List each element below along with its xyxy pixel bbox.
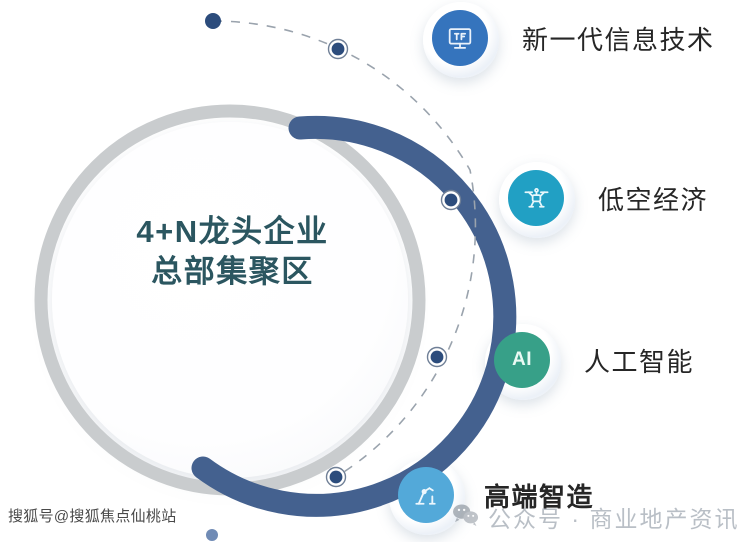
ai-text-icon: AI xyxy=(512,349,532,371)
drone-icon xyxy=(521,183,552,214)
pillar-badge[interactable] xyxy=(398,467,454,523)
center-headline-line1: 4+N龙头企业 xyxy=(136,214,328,249)
pillar-label: 人工智能 xyxy=(584,342,694,379)
pillar-badge[interactable]: AI xyxy=(494,332,550,388)
wechat-logo-icon xyxy=(452,503,479,532)
pillar-badge[interactable] xyxy=(432,10,488,66)
robot-arm-icon xyxy=(411,480,442,511)
dashed-arc-start-dot xyxy=(205,13,221,29)
center-headline: 4+N龙头企业 总部集聚区 xyxy=(55,212,410,293)
watermark-sohu-text: 搜狐号@搜狐焦点仙桃站 xyxy=(8,505,177,526)
watermark-wechat-text: 公众号 · 商业地产资讯中心 xyxy=(488,500,740,534)
monitor-it-icon xyxy=(445,23,475,53)
pillar-item-low-altitude-economy[interactable]: 低空经济 xyxy=(508,170,708,226)
infographic-canvas: 4+N龙头企业 总部集聚区 新一代信息技术 xyxy=(0,0,740,540)
pillar-label: 新一代信息技术 xyxy=(522,20,715,57)
watermark-sohu: 搜狐号@搜狐焦点仙桃站 xyxy=(8,505,177,526)
pillar-item-information-technology[interactable]: 新一代信息技术 xyxy=(432,10,715,66)
inner-disc xyxy=(52,122,408,478)
pillar-badge[interactable] xyxy=(508,170,564,226)
watermark-wechat: 公众号 · 商业地产资讯中心 xyxy=(452,500,740,534)
pillar-item-artificial-intelligence[interactable]: AI 人工智能 xyxy=(494,332,694,388)
pillar-label: 低空经济 xyxy=(598,180,708,217)
center-headline-line2: 总部集聚区 xyxy=(55,252,410,292)
